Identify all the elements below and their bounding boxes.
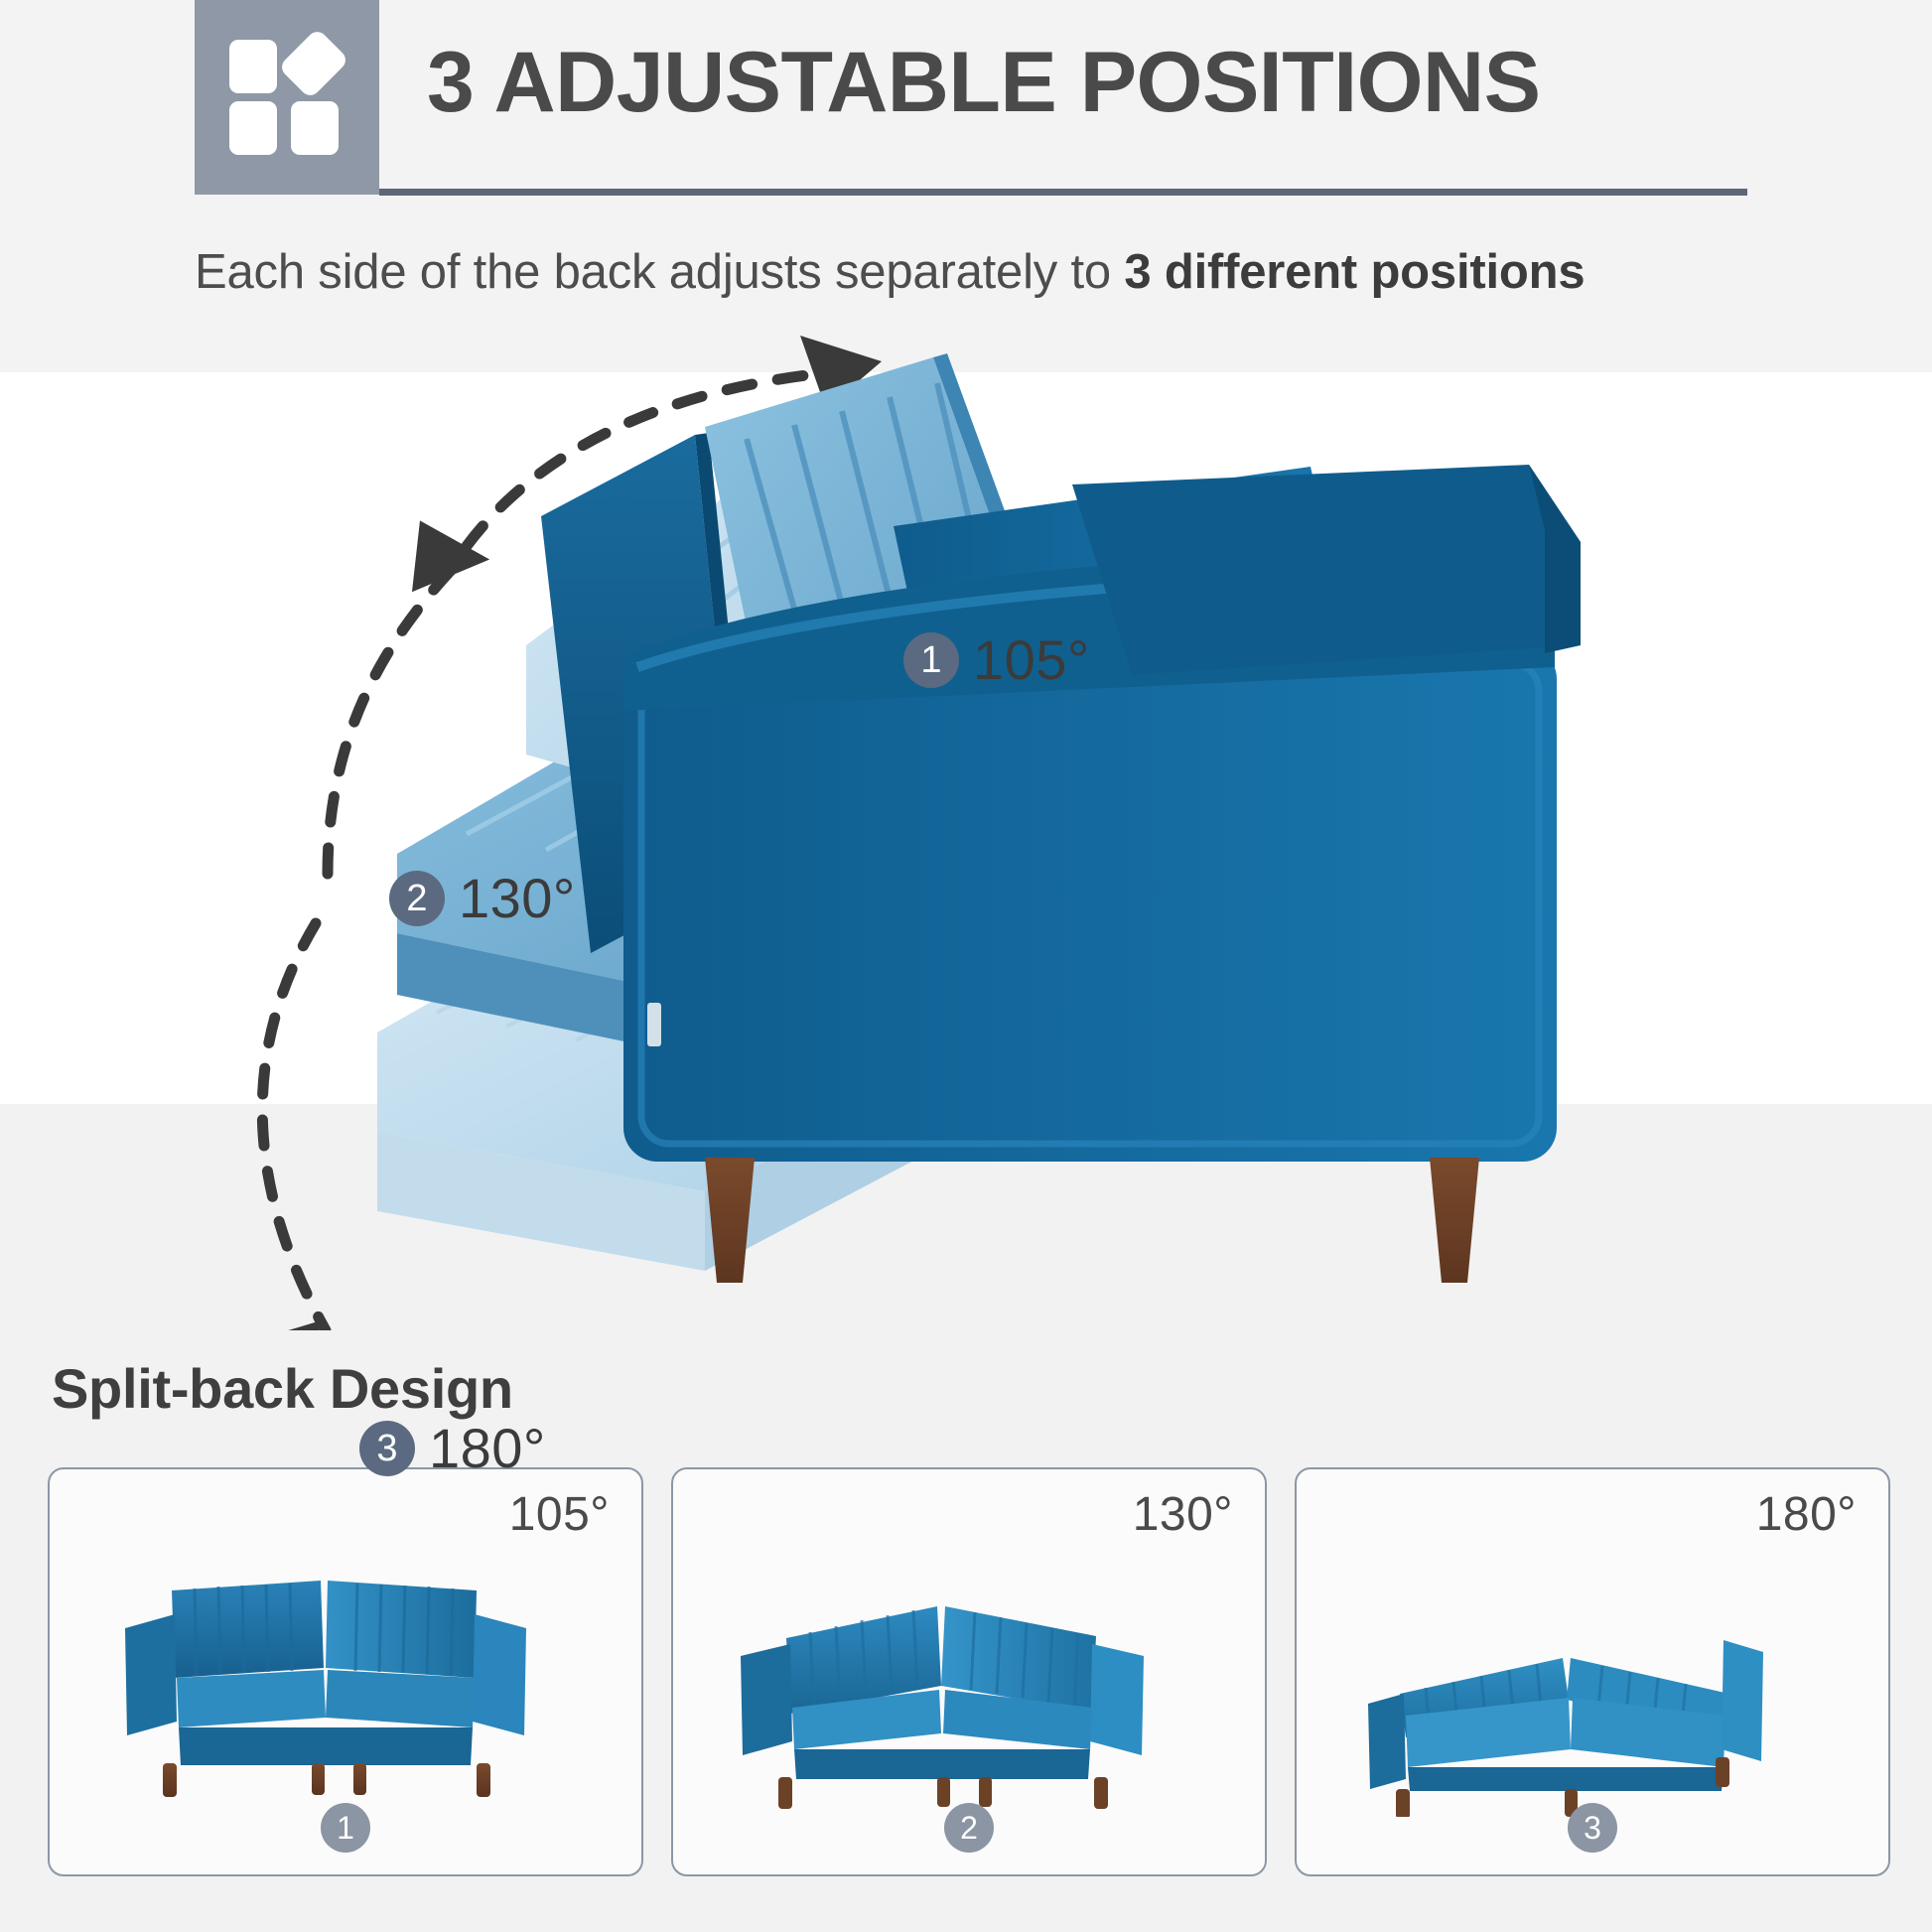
- grid-icon-square-bottom-left: [229, 101, 277, 155]
- card-badge-2: 2: [944, 1803, 994, 1853]
- grid-icon-diamond-top-right: [278, 28, 349, 99]
- position-label-2: 2 130°: [389, 866, 576, 930]
- arrowhead-position-3: [240, 1298, 347, 1330]
- recline-diagram: 1 105° 2 130° 3 180°: [0, 278, 1932, 1330]
- position-badge-3: 3: [359, 1421, 415, 1476]
- sofa-side-view-image: [377, 318, 1926, 1330]
- sofa-illustration: [377, 318, 1926, 1330]
- position-label-3: 3 180°: [359, 1416, 546, 1480]
- sofa-thumbnail-105: [50, 1519, 641, 1817]
- position-angle-1: 105°: [973, 627, 1090, 692]
- position-angle-2: 130°: [459, 866, 576, 930]
- header-icon-container: [195, 0, 379, 195]
- card-badge-1: 1: [321, 1803, 370, 1853]
- sofa-back-upper: [1072, 465, 1581, 675]
- grid-icon-square-top-left: [229, 40, 277, 93]
- split-back-heading: Split-back Design: [52, 1356, 513, 1421]
- position-badge-2: 2: [389, 871, 445, 926]
- position-badge-1: 1: [903, 632, 959, 688]
- split-back-card-2[interactable]: 130°: [671, 1467, 1267, 1876]
- infographic-page: 3 ADJUSTABLE POSITIONS Each side of the …: [0, 0, 1932, 1932]
- position-label-1: 1 105°: [903, 627, 1090, 692]
- split-back-card-3[interactable]: 180°: [1295, 1467, 1890, 1876]
- sofa-thumbnail-180: [1297, 1519, 1888, 1817]
- header-divider: [379, 189, 1747, 196]
- arc-to-position-3: [262, 923, 326, 1330]
- sofa-thumbnail-130: [673, 1519, 1265, 1817]
- header: 3 ADJUSTABLE POSITIONS Each side of the …: [0, 0, 1932, 228]
- page-title: 3 ADJUSTABLE POSITIONS: [427, 40, 1541, 125]
- split-back-card-list: 105°: [48, 1467, 1890, 1876]
- grid-icon-square-bottom-right: [291, 101, 339, 155]
- sofa-leg-right: [1430, 1158, 1479, 1283]
- split-back-card-1[interactable]: 105°: [48, 1467, 643, 1876]
- grid-four-squares-icon: [229, 40, 345, 155]
- position-angle-3: 180°: [429, 1416, 546, 1480]
- card-badge-3: 3: [1568, 1803, 1617, 1853]
